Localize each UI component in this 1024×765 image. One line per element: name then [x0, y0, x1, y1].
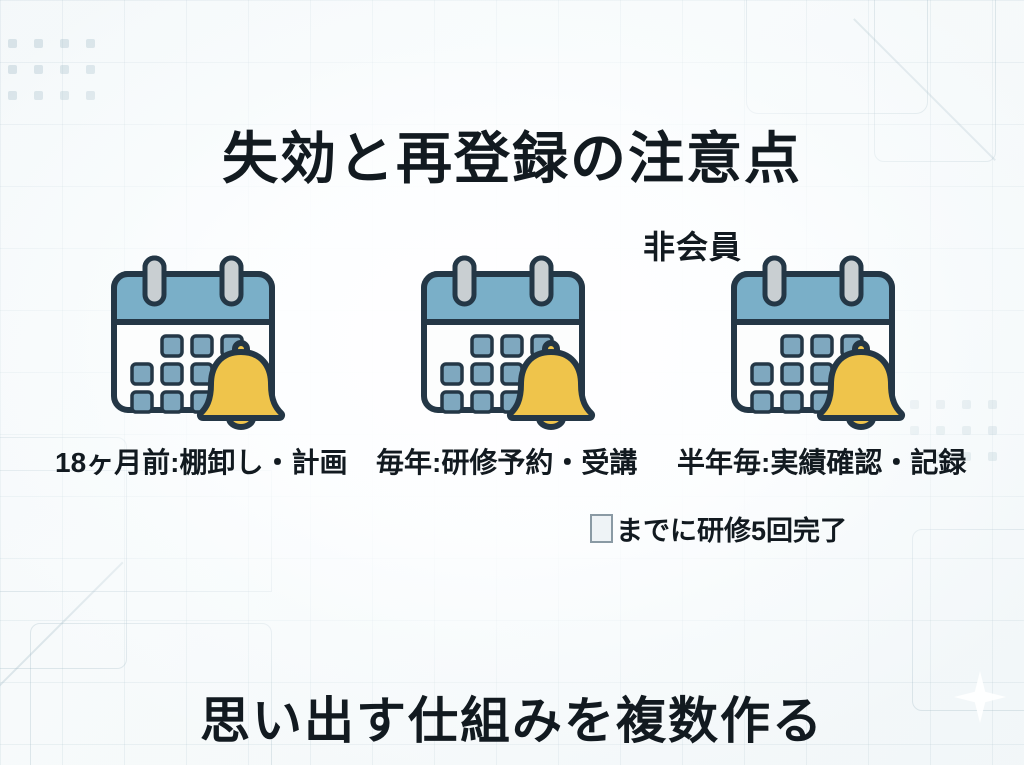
reminder-caption: 毎年:研修予約・受講	[376, 441, 637, 481]
reminder-caption: 半年毎:実績確認・記録	[677, 441, 966, 481]
slide-content: 失効と再登録の注意点 非会員	[0, 0, 1024, 765]
reminder-caption: 18ヶ月前:棚卸し・計画	[55, 441, 347, 481]
subnote: までに研修5回完了	[590, 509, 847, 548]
reminder-caption-row: 18ヶ月前:棚卸し・計画 毎年:研修予約・受講 半年毎:実績確認・記録	[0, 441, 1024, 483]
page-title: 失効と再登録の注意点	[0, 114, 1024, 195]
missing-glyph-box-icon	[590, 514, 613, 543]
reminder-icon-row	[0, 252, 1024, 432]
bottom-title: 思い出す仕組みを複数作る	[0, 681, 1024, 753]
calendar-bell-icon	[412, 252, 612, 432]
calendar-bell-icon	[722, 252, 922, 432]
slide-canvas: 失効と再登録の注意点 非会員	[0, 0, 1024, 765]
subnote-label: までに研修5回完了	[616, 509, 847, 548]
calendar-bell-icon	[102, 252, 302, 432]
